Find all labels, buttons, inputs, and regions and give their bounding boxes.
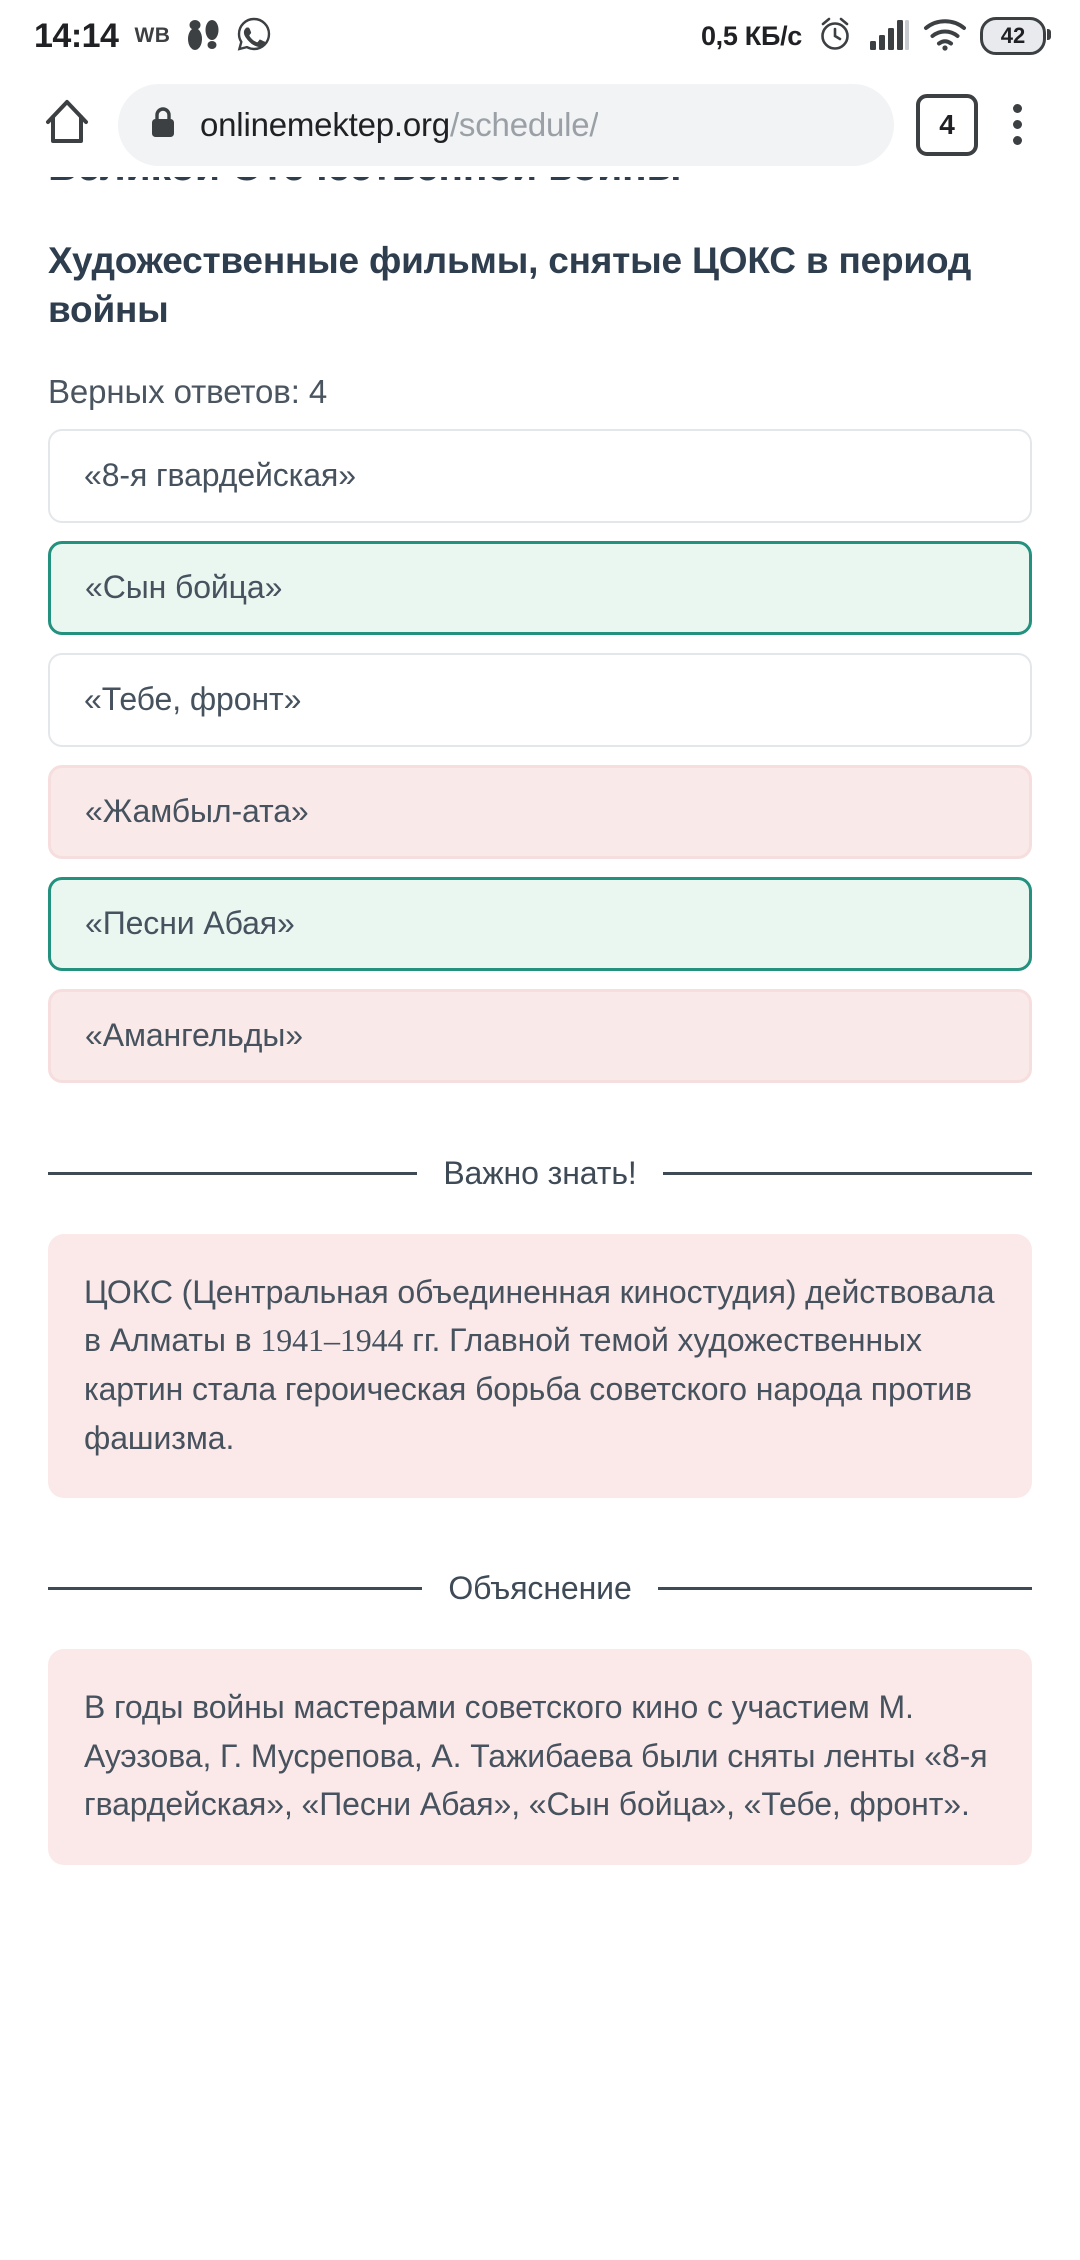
home-icon xyxy=(41,96,93,153)
answer-option[interactable]: «Амангельды» xyxy=(48,989,1032,1083)
status-clock: 14:14 xyxy=(34,17,118,56)
answer-option[interactable]: «Сын бойца» xyxy=(48,541,1032,635)
battery-indicator: 42 xyxy=(980,17,1046,55)
previous-question-heading-clipped: Великой Отечественной войны xyxy=(48,177,681,190)
wb-label: WB xyxy=(134,24,170,48)
url-text: onlinemektep.org/schedule/ xyxy=(200,106,598,144)
answer-option[interactable]: «Тебе, фронт» xyxy=(48,653,1032,747)
answer-option-label: «Песни Абая» xyxy=(85,905,295,942)
lock-secure-icon xyxy=(148,104,178,145)
answer-option[interactable]: «Песни Абая» xyxy=(48,877,1032,971)
answer-option-label: «Тебе, фронт» xyxy=(84,681,301,718)
overflow-menu-icon-dot3 xyxy=(1013,136,1022,145)
web-page-viewport[interactable]: Великой Отечественной войны Художественн… xyxy=(0,177,1080,2260)
important-divider-label: Важно знать! xyxy=(443,1155,636,1192)
url-domain: onlinemektep.org xyxy=(200,106,450,143)
wifi-icon xyxy=(923,17,967,56)
battery-level-label: 42 xyxy=(1001,23,1025,49)
explanation-section-divider: Объяснение xyxy=(48,1570,1032,1607)
answer-option-label: «Амангельды» xyxy=(85,1017,303,1054)
answer-options-list: «8-я гвардейская» «Сын бойца» «Тебе, фро… xyxy=(48,429,1032,1083)
overflow-menu-button[interactable] xyxy=(982,86,1052,164)
question-title: Художественные фильмы, снятые ЦОКС в пер… xyxy=(48,237,1032,335)
cellular-signal-icon xyxy=(868,18,910,55)
address-bar[interactable]: onlinemektep.org/schedule/ xyxy=(118,84,894,166)
divider-line-right xyxy=(663,1172,1032,1175)
overflow-menu-icon-dot2 xyxy=(1013,120,1022,129)
important-section-divider: Важно знать! xyxy=(48,1155,1032,1192)
correct-answers-count: Верных ответов: 4 xyxy=(48,373,1032,411)
status-bar-right: 0,5 КБ/с xyxy=(701,14,1046,59)
divider-line-left xyxy=(48,1172,417,1175)
status-bar-left: 14:14 WB xyxy=(34,15,272,58)
home-button[interactable] xyxy=(28,86,106,164)
status-bar: 14:14 WB 0,5 КБ/с xyxy=(0,0,1080,72)
quiz-content: Художественные фильмы, снятые ЦОКС в пер… xyxy=(0,237,1080,1865)
overflow-menu-icon xyxy=(1013,104,1022,113)
explanation-card: В годы войны мастерами советского кино с… xyxy=(48,1649,1032,1865)
answer-option-label: «8-я гвардейская» xyxy=(84,457,356,494)
divider-line-right xyxy=(658,1587,1032,1590)
explanation-divider-label: Объяснение xyxy=(448,1570,631,1607)
answer-option-label: «Сын бойца» xyxy=(85,569,282,606)
important-info-card: ЦОКС (Центральная объединенная киностуди… xyxy=(48,1234,1032,1499)
important-years: 1941–1944 xyxy=(260,1322,403,1358)
divider-line-left xyxy=(48,1587,422,1590)
answer-option-label: «Жамбыл-ата» xyxy=(85,793,309,830)
browser-toolbar: onlinemektep.org/schedule/ 4 xyxy=(0,72,1080,177)
alarm-clock-icon xyxy=(815,14,855,59)
url-path: /schedule/ xyxy=(450,106,598,143)
answer-option[interactable]: «8-я гвардейская» xyxy=(48,429,1032,523)
tab-switcher-button[interactable]: 4 xyxy=(916,94,978,156)
whatsapp-icon xyxy=(236,16,272,57)
answer-option[interactable]: «Жамбыл-ата» xyxy=(48,765,1032,859)
footsteps-icon xyxy=(186,15,220,58)
tab-count-label: 4 xyxy=(939,109,955,141)
network-speed-label: 0,5 КБ/с xyxy=(701,21,802,52)
